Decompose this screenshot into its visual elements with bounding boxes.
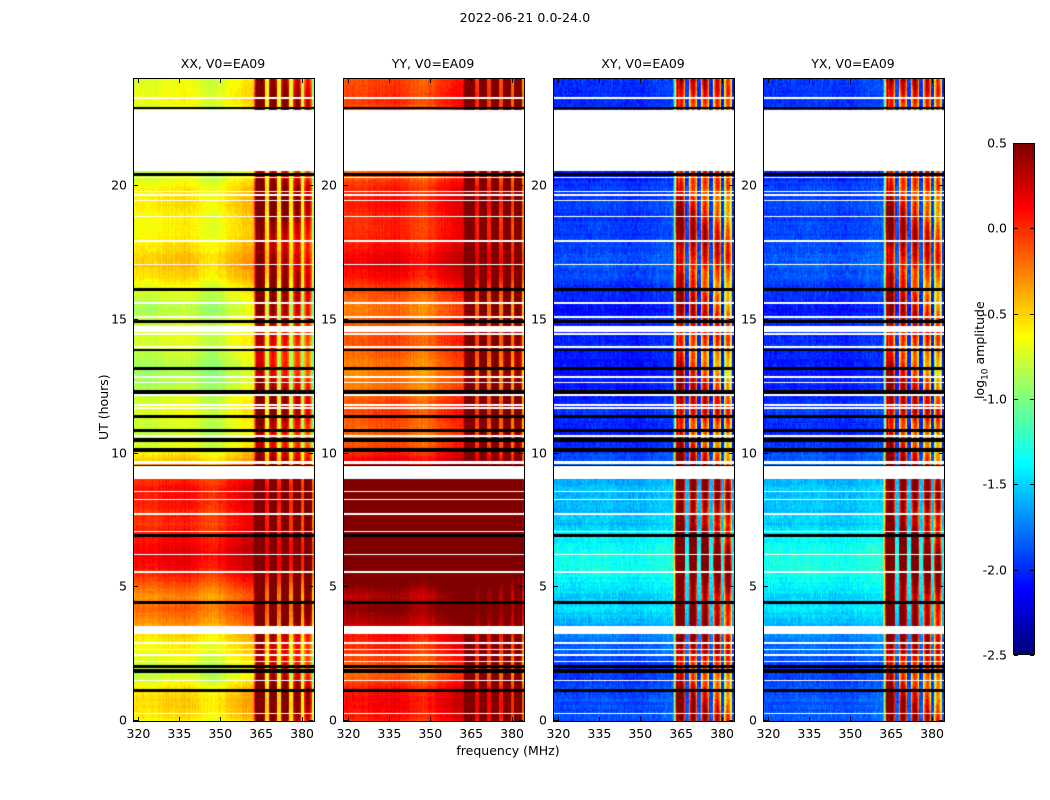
- x-tick-mark: [932, 717, 933, 721]
- panel-title-yx: YX, V0=EA09: [763, 56, 943, 71]
- y-tick-mark: [134, 453, 138, 454]
- colorbar-tick-mark: [1030, 228, 1034, 229]
- x-tick-label: 365: [249, 726, 273, 741]
- y-tick-label: 5: [301, 579, 337, 594]
- panel-title-xy: XY, V0=EA09: [553, 56, 733, 71]
- colorbar-tick-mark: [1014, 143, 1018, 144]
- panel-title-xx: XX, V0=EA09: [133, 56, 313, 71]
- y-tick-mark: [554, 319, 558, 320]
- y-tick-label: 20: [91, 178, 127, 193]
- y-tick-label: 5: [511, 579, 547, 594]
- y-tick-label: 20: [511, 178, 547, 193]
- colorbar-tick-label: -2.5: [983, 648, 1007, 663]
- x-tick-mark: [558, 79, 559, 83]
- x-axis-label: frequency (MHz): [0, 743, 1016, 758]
- y-tick-label: 15: [91, 311, 127, 326]
- panel-yy[interactable]: [343, 78, 525, 722]
- waterfall-image-yy: [344, 79, 524, 721]
- y-tick-mark: [764, 185, 768, 186]
- y-tick-mark: [939, 586, 943, 587]
- x-tick-mark: [220, 79, 221, 83]
- y-tick-label: 0: [91, 713, 127, 728]
- panel-xy[interactable]: [553, 78, 735, 722]
- x-tick-mark: [512, 79, 513, 83]
- x-tick-label: 380: [500, 726, 524, 741]
- x-tick-label: 350: [628, 726, 652, 741]
- colorbar-tick-mark: [1030, 570, 1034, 571]
- x-tick-mark: [138, 717, 139, 721]
- colorbar-tick-mark: [1014, 314, 1018, 315]
- x-tick-mark: [430, 717, 431, 721]
- y-tick-mark: [344, 319, 348, 320]
- colorbar-tick-label: 0.0: [987, 221, 1007, 236]
- figure-suptitle: 2022-06-21 0.0-24.0: [0, 10, 1050, 25]
- x-tick-mark: [261, 79, 262, 83]
- colorbar-tick-mark: [1014, 570, 1018, 571]
- colorbar-tick-mark: [1014, 655, 1018, 656]
- y-tick-label: 5: [721, 579, 757, 594]
- x-tick-mark: [768, 79, 769, 83]
- x-tick-label: 380: [290, 726, 314, 741]
- x-tick-label: 320: [127, 726, 151, 741]
- x-tick-mark: [681, 79, 682, 83]
- x-tick-mark: [471, 717, 472, 721]
- colorbar-tick-label: -1.5: [983, 477, 1007, 492]
- y-tick-mark: [764, 453, 768, 454]
- x-tick-mark: [220, 717, 221, 721]
- x-tick-mark: [138, 79, 139, 83]
- colorbar-tick-mark: [1014, 399, 1018, 400]
- y-tick-mark: [554, 453, 558, 454]
- y-tick-mark: [554, 586, 558, 587]
- colorbar-tick-mark: [1030, 399, 1034, 400]
- y-tick-mark: [939, 453, 943, 454]
- colorbar-tick-label: -0.5: [983, 306, 1007, 321]
- x-tick-mark: [850, 79, 851, 83]
- x-tick-mark: [179, 79, 180, 83]
- x-tick-label: 320: [337, 726, 361, 741]
- colorbar-tick-mark: [1014, 484, 1018, 485]
- x-tick-label: 320: [757, 726, 781, 741]
- x-tick-mark: [261, 717, 262, 721]
- x-tick-label: 365: [879, 726, 903, 741]
- x-tick-mark: [302, 717, 303, 721]
- x-tick-label: 380: [920, 726, 944, 741]
- y-tick-mark: [134, 185, 138, 186]
- y-tick-mark: [554, 185, 558, 186]
- y-tick-mark: [764, 319, 768, 320]
- x-tick-label: 365: [669, 726, 693, 741]
- x-tick-mark: [389, 79, 390, 83]
- y-tick-mark: [134, 319, 138, 320]
- panel-yx[interactable]: [763, 78, 945, 722]
- x-tick-label: 320: [547, 726, 571, 741]
- colorbar-tick-mark: [1030, 143, 1034, 144]
- x-tick-label: 365: [459, 726, 483, 741]
- y-tick-mark: [344, 453, 348, 454]
- x-tick-mark: [891, 79, 892, 83]
- x-tick-mark: [512, 717, 513, 721]
- x-tick-mark: [389, 717, 390, 721]
- y-tick-mark: [939, 319, 943, 320]
- y-tick-mark: [134, 586, 138, 587]
- x-tick-mark: [722, 79, 723, 83]
- x-tick-label: 335: [797, 726, 821, 741]
- x-tick-mark: [809, 717, 810, 721]
- x-tick-mark: [179, 717, 180, 721]
- y-tick-label: 10: [91, 445, 127, 460]
- y-tick-label: 15: [301, 311, 337, 326]
- y-tick-label: 10: [511, 445, 547, 460]
- y-tick-label: 20: [301, 178, 337, 193]
- waterfall-image-xy: [554, 79, 734, 721]
- colorbar-tick-label: -1.0: [983, 392, 1007, 407]
- y-tick-label: 10: [721, 445, 757, 460]
- x-tick-label: 350: [208, 726, 232, 741]
- x-tick-mark: [809, 79, 810, 83]
- x-tick-mark: [599, 717, 600, 721]
- waterfall-image-yx: [764, 79, 944, 721]
- figure-canvas: 2022-06-21 0.0-24.0 XX, V0=EA09 YY, V0=E…: [0, 0, 1050, 800]
- x-tick-mark: [471, 79, 472, 83]
- x-tick-mark: [302, 79, 303, 83]
- x-tick-mark: [348, 717, 349, 721]
- x-tick-label: 335: [587, 726, 611, 741]
- x-tick-mark: [640, 717, 641, 721]
- y-tick-mark: [939, 720, 943, 721]
- x-tick-mark: [768, 717, 769, 721]
- y-tick-mark: [344, 185, 348, 186]
- colorbar-tick-label: -2.0: [983, 562, 1007, 577]
- panel-xx[interactable]: [133, 78, 315, 722]
- x-tick-mark: [430, 79, 431, 83]
- y-tick-mark: [344, 586, 348, 587]
- x-tick-label: 335: [377, 726, 401, 741]
- y-tick-mark: [764, 586, 768, 587]
- x-tick-mark: [850, 717, 851, 721]
- y-tick-label: 5: [91, 579, 127, 594]
- x-tick-mark: [558, 717, 559, 721]
- colorbar-tick-mark: [1030, 655, 1034, 656]
- x-tick-mark: [348, 79, 349, 83]
- x-tick-mark: [681, 717, 682, 721]
- x-tick-label: 350: [838, 726, 862, 741]
- x-tick-label: 380: [710, 726, 734, 741]
- x-tick-mark: [932, 79, 933, 83]
- y-axis-label: UT (hours): [96, 374, 111, 440]
- y-tick-label: 20: [721, 178, 757, 193]
- x-tick-mark: [599, 79, 600, 83]
- x-tick-mark: [891, 717, 892, 721]
- y-tick-label: 10: [301, 445, 337, 460]
- y-tick-label: 15: [721, 311, 757, 326]
- waterfall-image-xx: [134, 79, 314, 721]
- panel-title-yy: YY, V0=EA09: [343, 56, 523, 71]
- x-tick-mark: [640, 79, 641, 83]
- colorbar-tick-mark: [1014, 228, 1018, 229]
- x-tick-label: 335: [167, 726, 191, 741]
- colorbar-tick-mark: [1030, 484, 1034, 485]
- colorbar-tick-mark: [1030, 314, 1034, 315]
- x-tick-label: 350: [418, 726, 442, 741]
- y-tick-mark: [939, 185, 943, 186]
- y-tick-label: 15: [511, 311, 547, 326]
- x-tick-mark: [722, 717, 723, 721]
- colorbar-tick-label: 0.5: [987, 136, 1007, 151]
